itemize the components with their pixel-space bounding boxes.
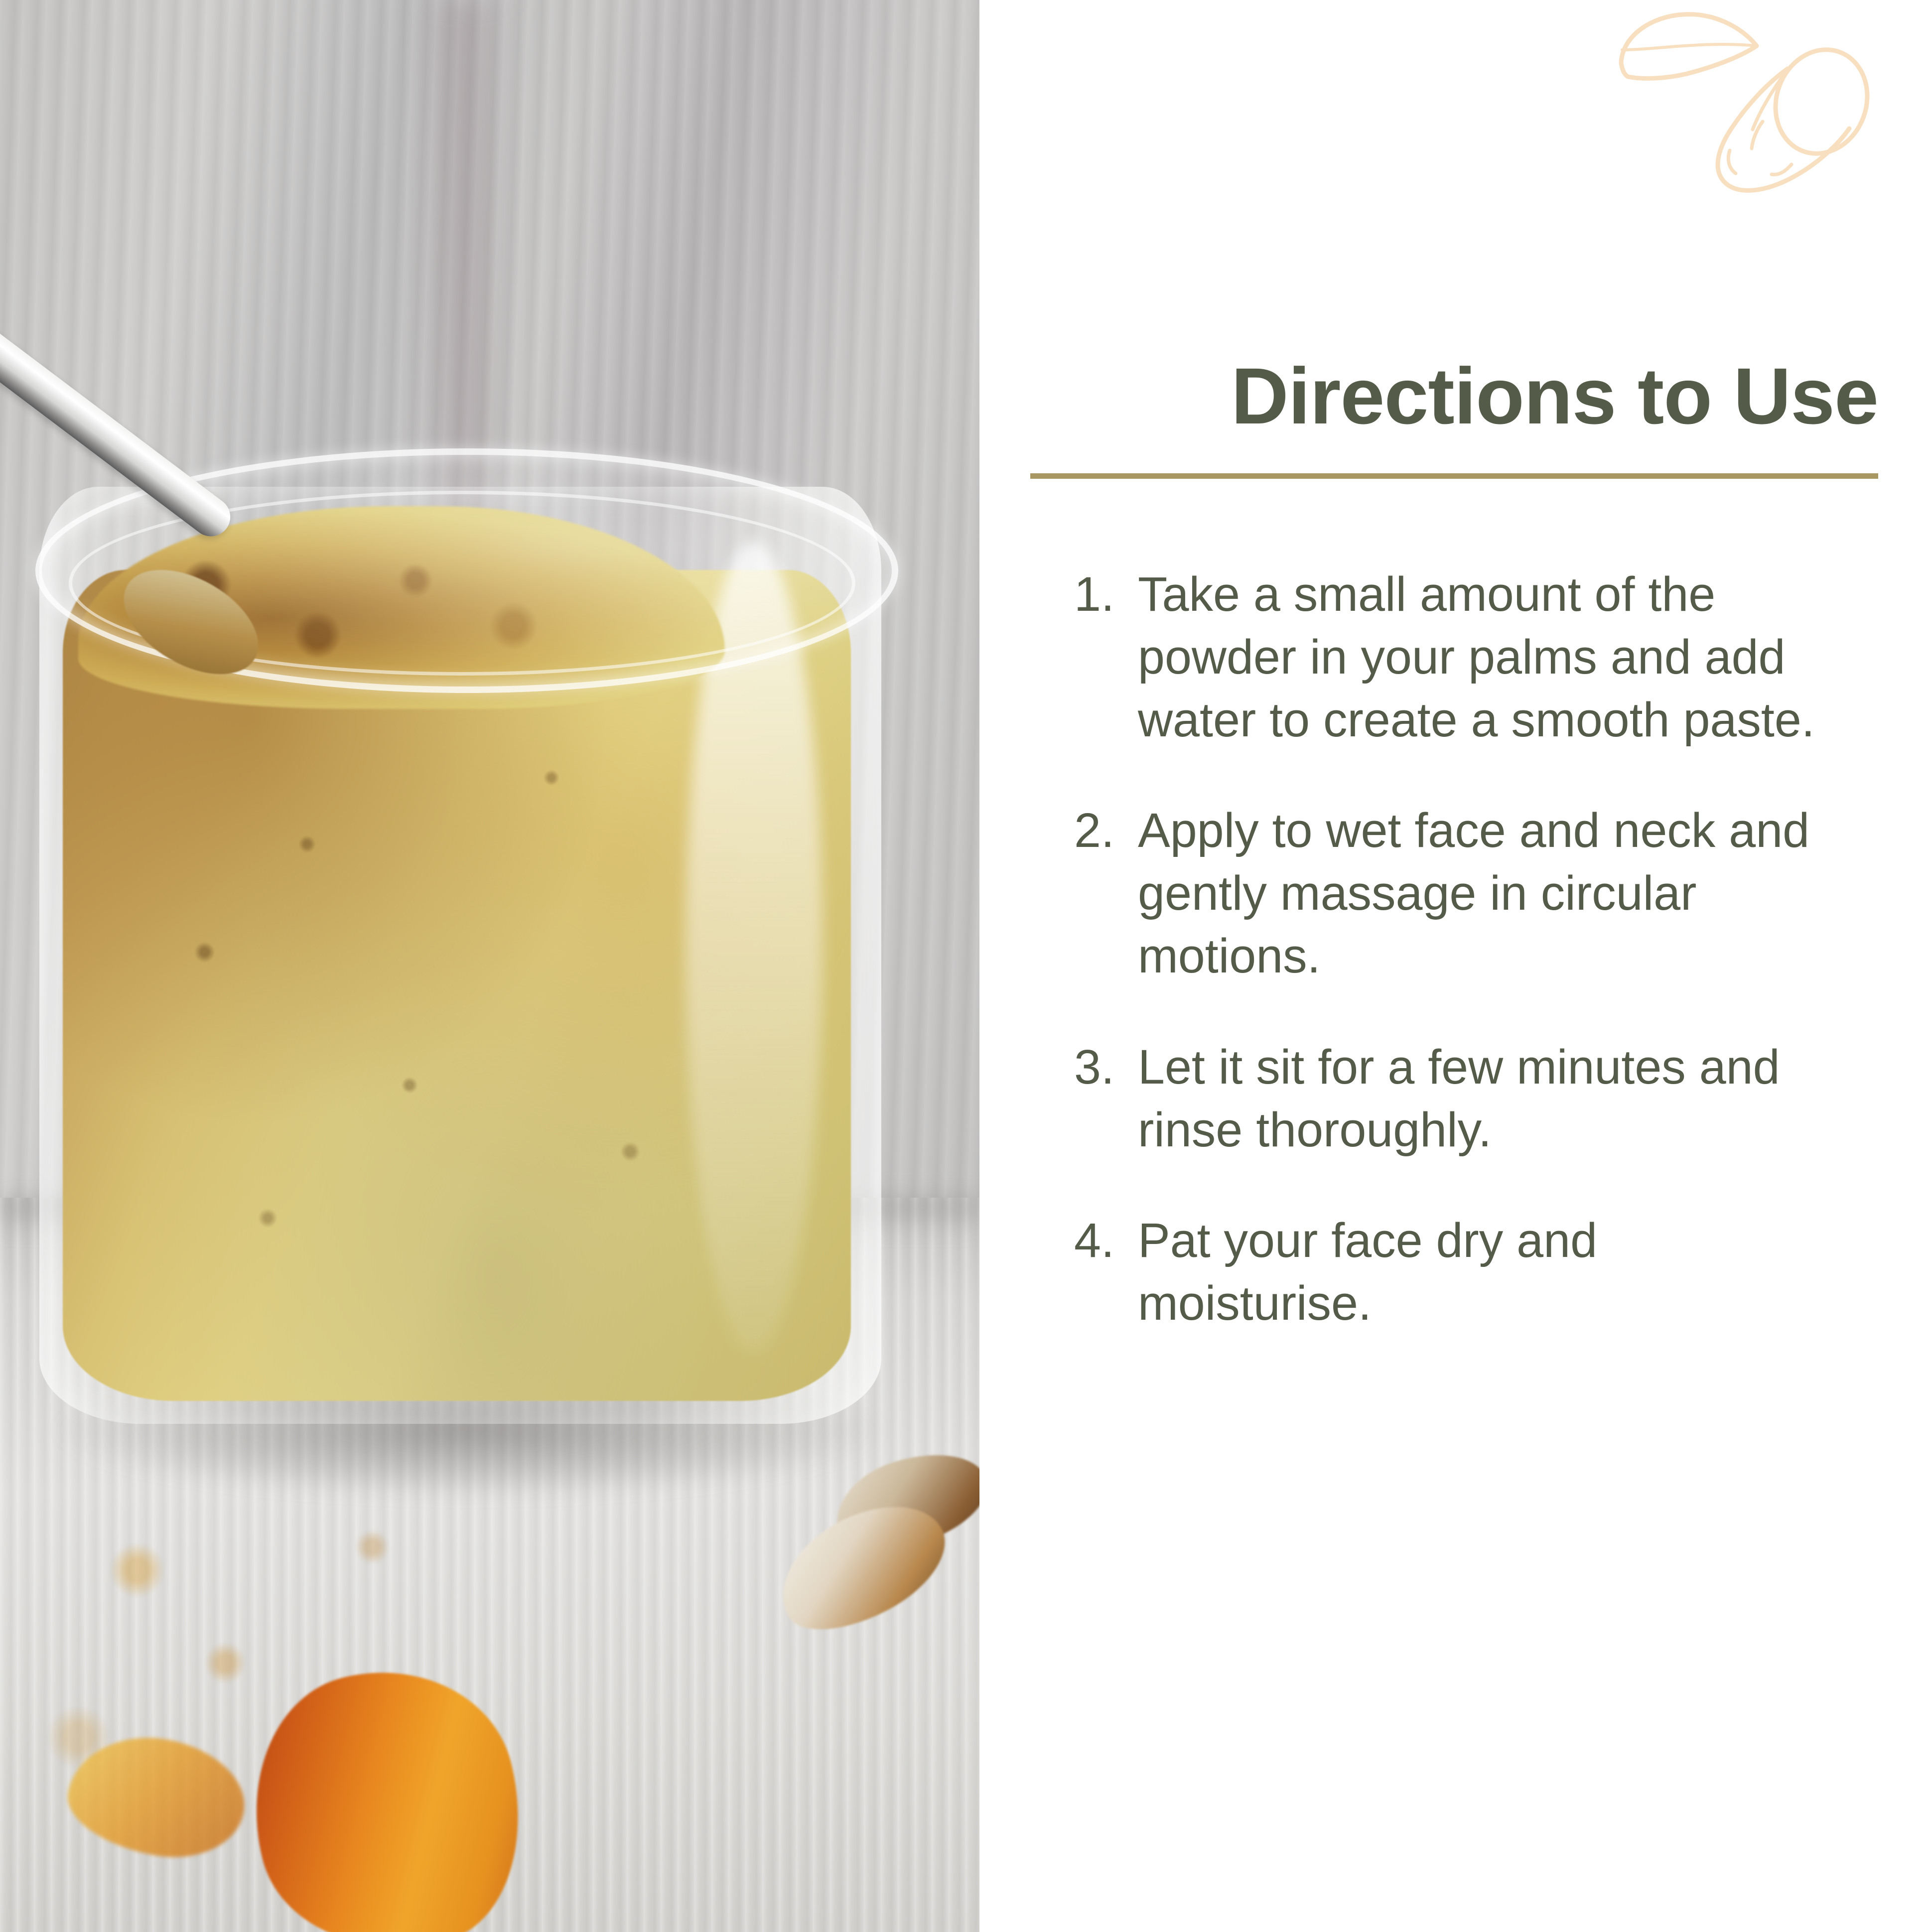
step-text: Pat your face dry and moisturise. [1138,1209,1842,1335]
root-head [1761,37,1882,167]
directions-list: 1. Take a small amount of the powder in … [1074,563,1842,1335]
root-ridge-4 [1772,164,1792,174]
step-number: 3. [1074,1036,1138,1099]
root-ridge-3 [1728,150,1736,173]
step-number: 2. [1074,799,1138,862]
directions-to-use-page: Directions to Use 1. Take a small amount… [0,0,1932,1932]
step-text: Take a small amount of the powder in you… [1138,563,1842,751]
leaf-vein [1622,44,1757,50]
heading-block: Directions to Use [1030,354,1878,479]
list-item: 3. Let it sit for a few minutes and rins… [1074,1036,1842,1161]
turmeric-root-and-leaf-icon [1607,4,1886,218]
step-number: 4. [1074,1209,1138,1272]
content-panel: Directions to Use 1. Take a small amount… [979,0,1932,1932]
page-title: Directions to Use [1030,354,1878,438]
list-item: 4. Pat your face dry and moisturise. [1074,1209,1842,1335]
product-photo [0,0,979,1932]
step-text: Let it sit for a few minutes and rinse t… [1138,1036,1842,1161]
list-item: 2. Apply to wet face and neck and gently… [1074,799,1842,987]
title-divider-rule [1030,473,1878,479]
step-text: Apply to wet face and neck and gently ma… [1138,799,1842,987]
list-item: 1. Take a small amount of the powder in … [1074,563,1842,751]
step-number: 1. [1074,563,1138,626]
